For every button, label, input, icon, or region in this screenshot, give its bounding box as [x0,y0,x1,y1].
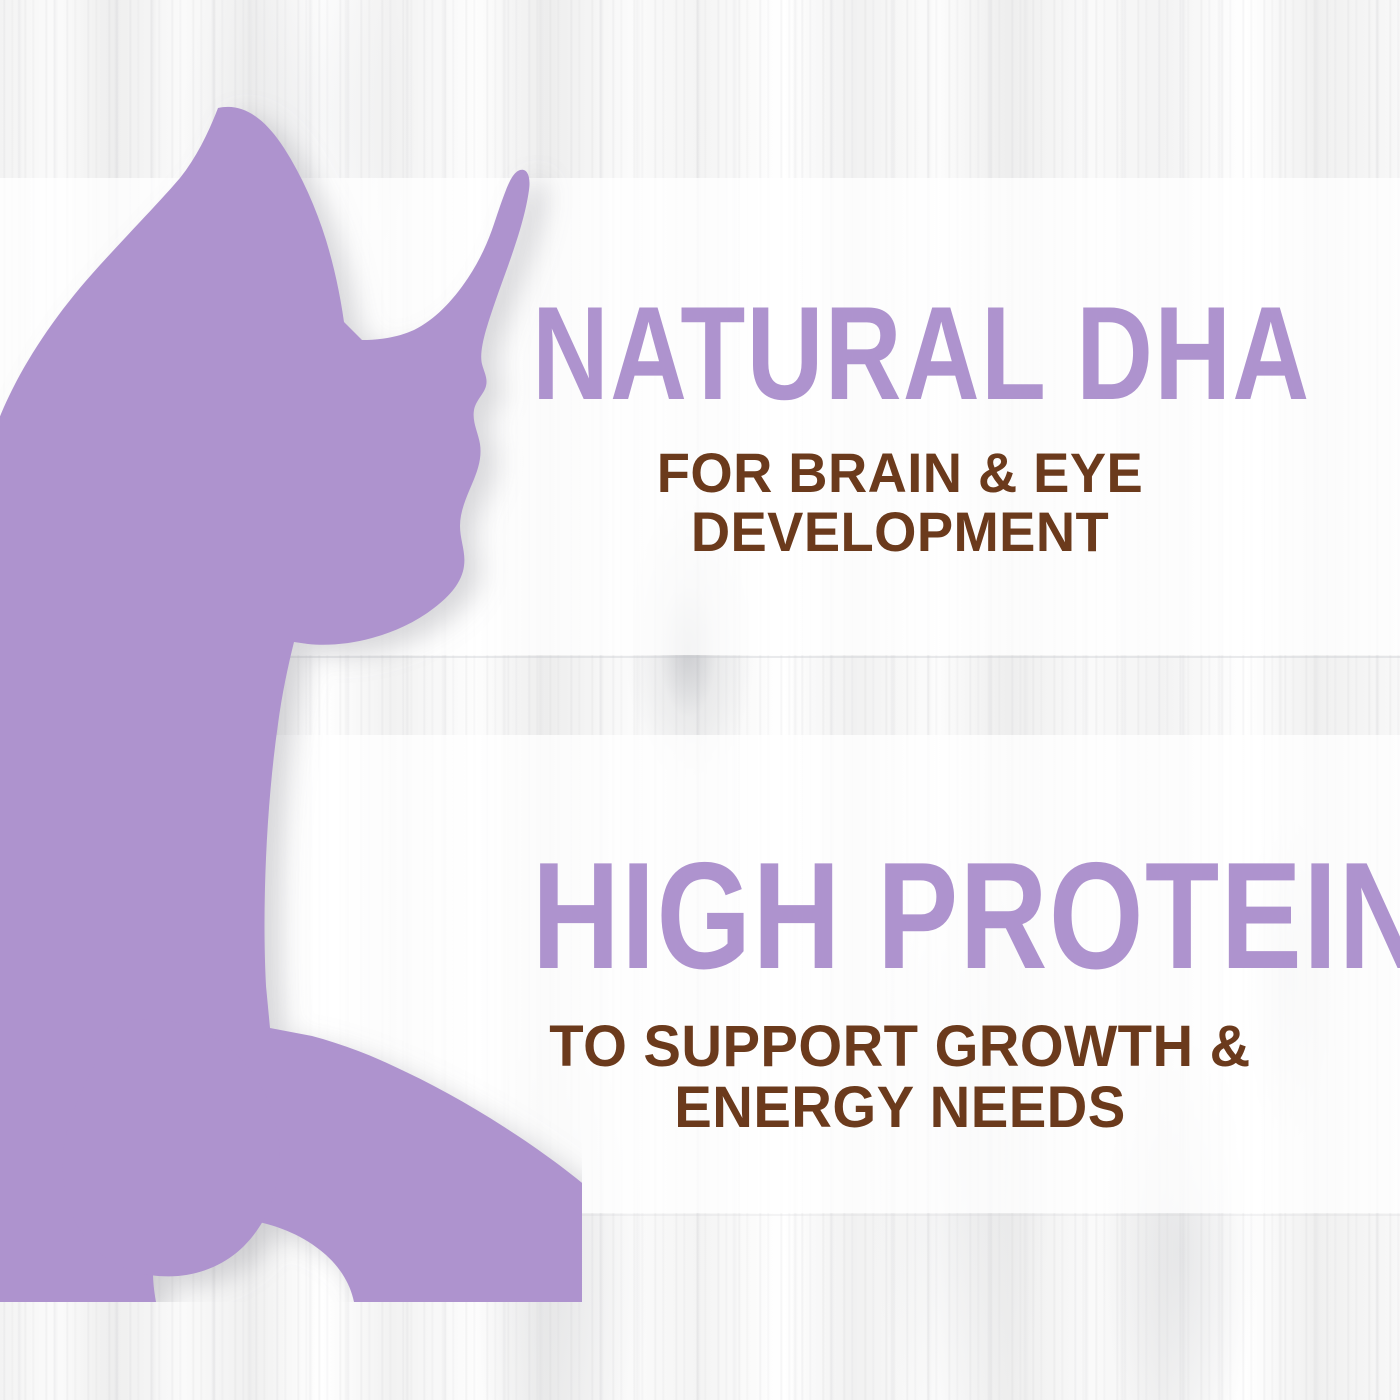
benefit-subline-line: FOR BRAIN & EYE [454,443,1346,502]
product-benefits-panel: NATURAL DHA FOR BRAIN & EYE DEVELOPMENT … [0,0,1400,1400]
benefit-subline-high-protein: TO SUPPORT GROWTH & ENERGY NEEDS [454,1016,1346,1139]
benefit-subline-natural-dha: FOR BRAIN & EYE DEVELOPMENT [454,443,1346,562]
benefit-block-natural-dha: NATURAL DHA FOR BRAIN & EYE DEVELOPMENT [440,288,1360,562]
benefit-headline-high-protein: HIGH PROTEIN [532,840,1268,992]
benefit-subline-line: TO SUPPORT GROWTH & [454,1016,1346,1077]
benefit-subline-line: ENERGY NEEDS [454,1077,1346,1138]
benefit-block-high-protein: HIGH PROTEIN TO SUPPORT GROWTH & ENERGY … [440,840,1360,1139]
benefit-headline-natural-dha: NATURAL DHA [532,288,1268,421]
benefit-subline-line: DEVELOPMENT [454,502,1346,561]
